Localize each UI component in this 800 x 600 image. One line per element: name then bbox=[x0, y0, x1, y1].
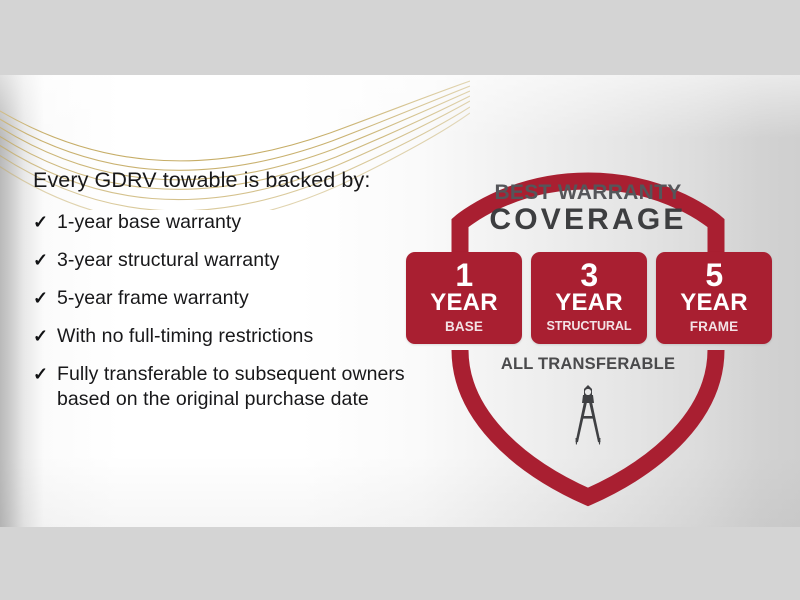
coverage-box-group: 1 YEAR BASE 3 YEAR STRUCTURAL 5 YEAR FRA… bbox=[406, 252, 772, 344]
list-item: ✓ 3-year structural warranty bbox=[33, 248, 433, 273]
warranty-copy-block: Every GDRV towable is backed by: ✓ 1-yea… bbox=[33, 168, 433, 425]
list-item-label: With no full-timing restrictions bbox=[57, 324, 313, 349]
list-item: ✓ Fully transferable to subsequent owner… bbox=[33, 362, 433, 412]
coverage-box-base: 1 YEAR BASE bbox=[406, 252, 522, 344]
list-item: ✓ 1-year base warranty bbox=[33, 210, 433, 235]
badge-title-top: BEST WARRANTY bbox=[398, 181, 778, 205]
coverage-label: STRUCTURAL bbox=[531, 315, 647, 333]
coverage-label: BASE bbox=[406, 315, 522, 334]
coverage-number: 3 bbox=[531, 252, 647, 291]
coverage-unit: YEAR bbox=[406, 291, 522, 315]
screenshot-stage: Every GDRV towable is backed by: ✓ 1-yea… bbox=[0, 0, 800, 600]
coverage-box-frame: 5 YEAR FRAME bbox=[656, 252, 772, 344]
all-transferable-label: ALL TRANSFERABLE bbox=[398, 355, 778, 374]
check-icon: ✓ bbox=[33, 210, 57, 235]
list-item: ✓ 5-year frame warranty bbox=[33, 286, 433, 311]
coverage-unit: YEAR bbox=[531, 291, 647, 315]
list-item-label: 1-year base warranty bbox=[57, 210, 241, 235]
coverage-label: FRAME bbox=[656, 315, 772, 334]
warranty-graphic-panel: Every GDRV towable is backed by: ✓ 1-yea… bbox=[0, 75, 800, 527]
badge-title-bottom: COVERAGE bbox=[398, 203, 778, 237]
check-icon: ✓ bbox=[33, 324, 57, 349]
check-icon: ✓ bbox=[33, 286, 57, 311]
coverage-unit: YEAR bbox=[656, 291, 772, 315]
drafting-compass-icon bbox=[561, 383, 615, 445]
best-warranty-coverage-badge: BEST WARRANTY COVERAGE 1 YEAR BASE 3 YEA… bbox=[398, 165, 778, 510]
coverage-number: 1 bbox=[406, 252, 522, 291]
coverage-number: 5 bbox=[656, 252, 772, 291]
page-title: Every GDRV towable is backed by: bbox=[33, 168, 433, 193]
check-icon: ✓ bbox=[33, 248, 57, 273]
list-item-label: 3-year structural warranty bbox=[57, 248, 279, 273]
list-item-label: 5-year frame warranty bbox=[57, 286, 249, 311]
coverage-box-structural: 3 YEAR STRUCTURAL bbox=[531, 252, 647, 344]
check-icon: ✓ bbox=[33, 362, 57, 387]
list-item-label: Fully transferable to subsequent owners … bbox=[57, 362, 415, 412]
list-item: ✓ With no full-timing restrictions bbox=[33, 324, 433, 349]
